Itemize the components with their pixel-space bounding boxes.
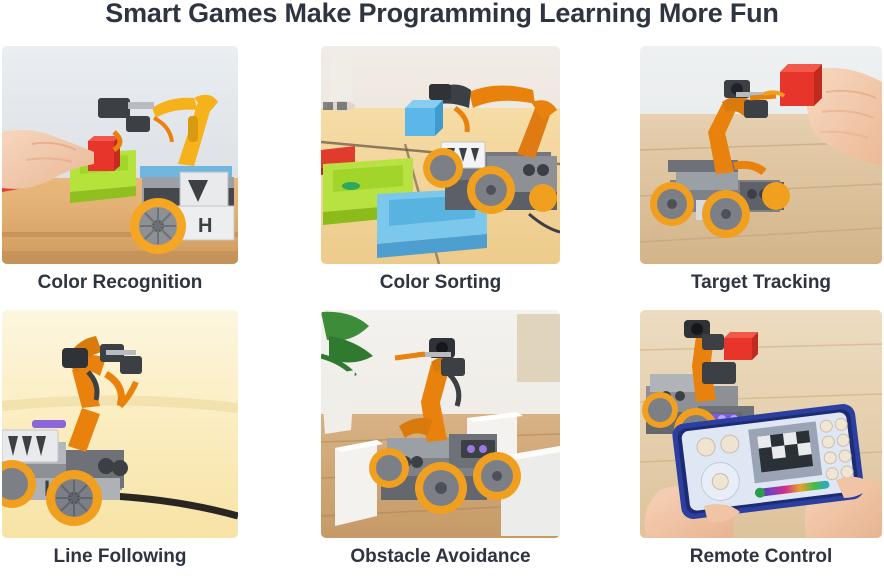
photo-line-following: H — [2, 310, 238, 538]
scene-color-sorting — [321, 46, 560, 264]
photo-obstacle-avoidance — [321, 310, 560, 538]
gallery-item-obstacle-avoidance[interactable]: Obstacle Avoidance — [321, 310, 560, 574]
caption-obstacle-avoidance: Obstacle Avoidance — [321, 544, 560, 570]
gallery-row-bottom: H — [0, 310, 884, 574]
gallery-item-line-following[interactable]: H — [2, 310, 238, 574]
gallery-item-color-sorting[interactable]: Color Sorting — [321, 46, 560, 310]
scene-target-tracking — [640, 46, 882, 264]
scene-color-recognition: H — [2, 46, 238, 264]
gallery-item-remote-control[interactable]: Remote Control — [640, 310, 882, 574]
caption-target-tracking: Target Tracking — [640, 270, 882, 296]
caption-color-sorting: Color Sorting — [321, 270, 560, 296]
caption-remote-control: Remote Control — [640, 544, 882, 570]
photo-remote-control — [640, 310, 882, 538]
scene-obstacle-avoidance — [321, 310, 560, 538]
page-title: Smart Games Make Programming Learning Mo… — [0, 0, 884, 30]
photo-color-recognition: H — [2, 46, 238, 264]
gallery-item-color-recognition[interactable]: H — [2, 46, 238, 310]
gallery-row-top: H — [0, 46, 884, 310]
svg-text:H: H — [198, 215, 212, 237]
gallery-page: Smart Games Make Programming Learning Mo… — [0, 0, 884, 587]
photo-color-sorting — [321, 46, 560, 264]
gallery-item-target-tracking[interactable]: Target Tracking — [640, 46, 882, 310]
scene-line-following: H — [2, 310, 238, 538]
caption-line-following: Line Following — [2, 544, 238, 570]
caption-color-recognition: Color Recognition — [2, 270, 238, 296]
photo-target-tracking — [640, 46, 882, 264]
scene-remote-control — [640, 310, 882, 538]
